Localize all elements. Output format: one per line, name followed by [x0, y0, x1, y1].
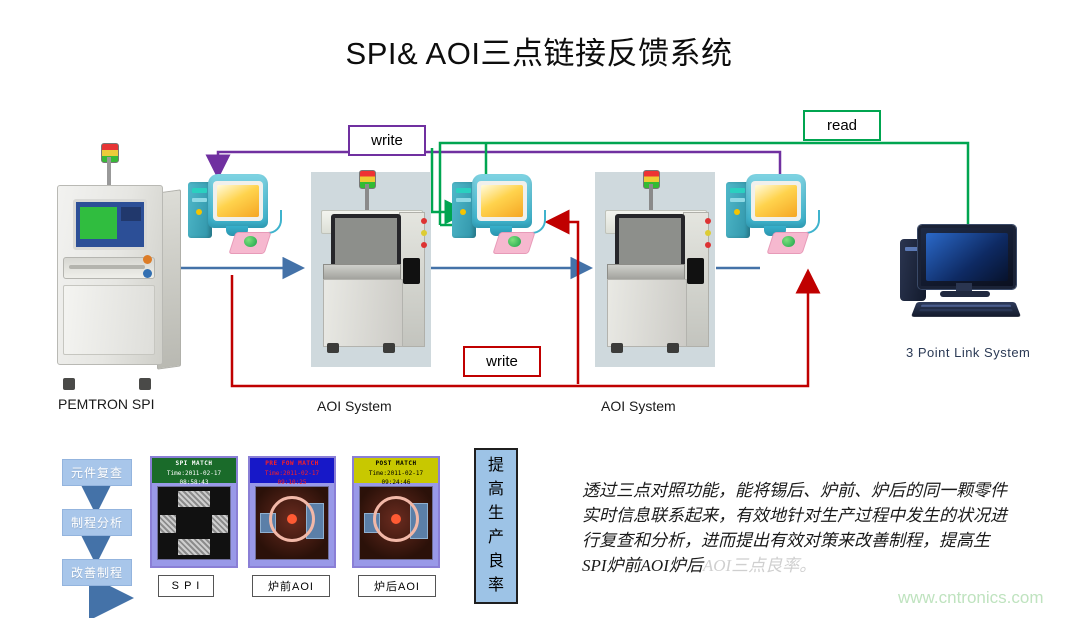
- spi-machine-image: [57, 185, 179, 380]
- yield-char-3: 生: [488, 506, 504, 522]
- panel-timestamp: Time:2011-02-17 08:58:43: [152, 469, 236, 488]
- flow-step-component-review: 元件复查: [62, 459, 132, 486]
- panel-title: SPI MATCH: [152, 459, 236, 469]
- mouse-icon: [508, 236, 521, 247]
- panel-title: POST MATCH: [354, 459, 438, 469]
- write-label-bottom: write: [463, 346, 541, 377]
- panel-image: [255, 486, 329, 560]
- description-paragraph: 透过三点对照功能，能将锡后、炉前、炉后的同一颗零件 实时信息联系起来，有效地针对…: [582, 478, 1052, 578]
- yield-char-2: 高: [488, 482, 504, 498]
- label-aoi-system-1: AOI System: [317, 398, 392, 414]
- panel-timestamp: Time:2011-02-17 09:10:25: [250, 469, 334, 488]
- panel-header: SPI MATCH Time:2011-02-17 08:58:43: [152, 458, 236, 483]
- workstation-pc-1: [188, 174, 274, 252]
- yield-improvement-box: 提 高 生 产 良 率: [474, 448, 518, 604]
- panel-pre-reflow-match: PRE FOW MATCH Time:2011-02-17 09:10:25: [248, 456, 336, 568]
- flow-step-process-improvement: 改善制程: [62, 559, 132, 586]
- panel-image: [359, 486, 433, 560]
- page-title: SPI& AOI三点链接反馈系统: [0, 28, 1078, 73]
- panel-post-reflow-match: POST MATCH Time:2011-02-17 09:24:46: [352, 456, 440, 568]
- mouse-cord: [262, 210, 282, 234]
- panel-header: PRE FOW MATCH Time:2011-02-17 09:10:25: [250, 458, 334, 483]
- mouse-icon: [782, 236, 795, 247]
- yield-char-6: 率: [488, 578, 504, 594]
- panel-caption-pre-aoi: 炉前AOI: [252, 575, 330, 597]
- panel-title: PRE FOW MATCH: [250, 459, 334, 469]
- panel-timestamp: Time:2011-02-17 09:24:46: [354, 469, 438, 488]
- conveyor-slot: [63, 257, 155, 279]
- paragraph-line-1: 透过三点对照功能，能将锡后、炉前、炉后的同一颗零件: [582, 478, 1052, 503]
- spi-screen: [73, 199, 147, 250]
- panel-image: [157, 486, 231, 560]
- link-system-workstation-image: [900, 225, 1022, 335]
- flow-step-process-analysis: 制程分析: [62, 509, 132, 536]
- emergency-stop-icon: [143, 255, 152, 264]
- lamp-pole: [107, 157, 111, 187]
- paragraph-line-4: SPI炉前AOI炉后AOI三点良率。: [582, 553, 1052, 578]
- label-aoi-system-2: AOI System: [601, 398, 676, 414]
- mouse-icon: [244, 236, 257, 247]
- keyboard-icon: [911, 302, 1021, 317]
- aoi-monitor: [615, 214, 685, 270]
- write-label-top: write: [348, 125, 426, 156]
- label-pemtron-spi: PEMTRON SPI: [58, 396, 154, 412]
- machine-door: [63, 285, 155, 355]
- mouse-cord: [526, 210, 546, 234]
- panel-caption-post-aoi: 炉后AOI: [358, 575, 436, 597]
- aoi-machine-1-image: [311, 172, 431, 367]
- read-label: read: [803, 110, 881, 141]
- workstation-pc-2: [452, 174, 538, 252]
- yield-char-4: 产: [488, 530, 504, 546]
- paragraph-line-4-solid: SPI炉前AOI炉后: [582, 556, 703, 575]
- link-monitor-icon: [918, 225, 1016, 289]
- label-3-point-link-system: 3 Point Link System: [906, 345, 1030, 360]
- aoi-machine-2-image: [595, 172, 715, 367]
- power-button-icon: [143, 269, 152, 278]
- site-watermark: www.cntronics.com: [898, 588, 1043, 608]
- panel-caption-spi: S P I: [158, 575, 214, 597]
- yield-char-1: 提: [488, 458, 504, 474]
- paragraph-line-3: 行复查和分析，进而提出有效对策来改善制程，提高生: [582, 528, 1052, 553]
- workstation-pc-3: [726, 174, 812, 252]
- aoi-monitor: [331, 214, 401, 270]
- paragraph-line-2: 实时信息联系起来，有效地针对生产过程中发生的状况进: [582, 503, 1052, 528]
- yield-char-5: 良: [488, 554, 504, 570]
- panel-header: POST MATCH Time:2011-02-17 09:24:46: [354, 458, 438, 483]
- mouse-cord: [800, 210, 820, 234]
- panel-spi-match: SPI MATCH Time:2011-02-17 08:58:43: [150, 456, 238, 568]
- paragraph-line-4-faded: AOI三点良率。: [703, 556, 816, 575]
